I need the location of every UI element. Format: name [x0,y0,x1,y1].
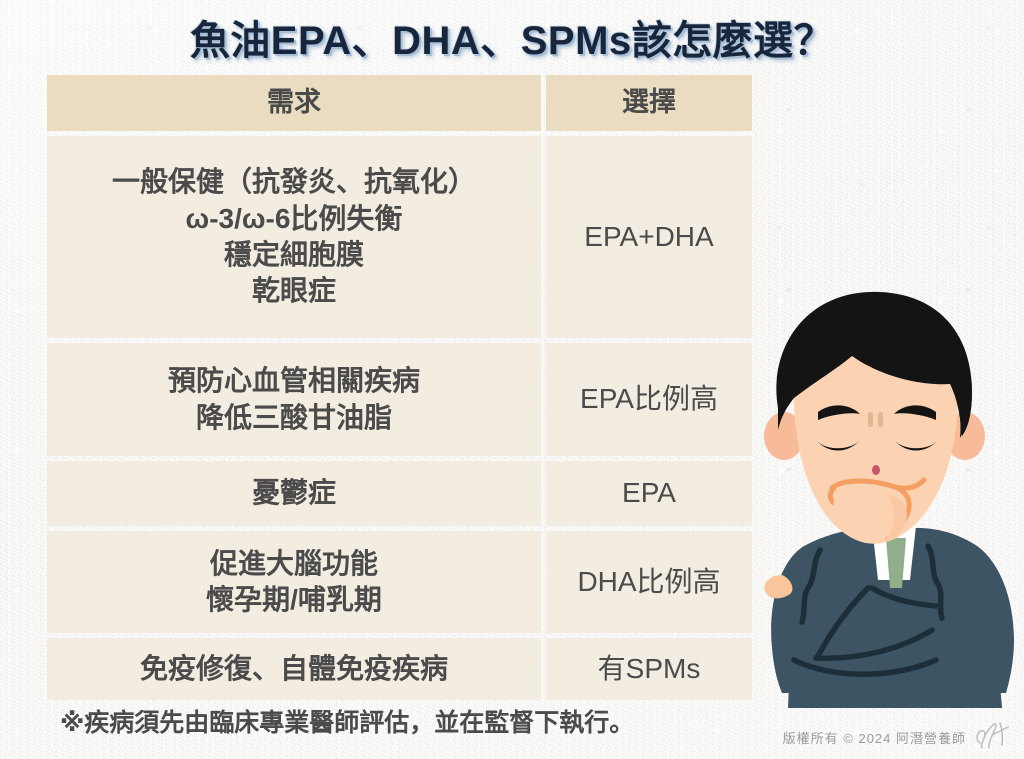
signature-mark [970,719,1016,753]
thinking-businessman-illustration [760,288,1024,713]
need-line: 預防心血管相關疾病 [168,363,420,399]
cell-need: 一般保健（抗發炎、抗氧化） ω-3/ω-6比例失衡 穩定細胞膜 乾眼症 [47,136,541,338]
comparison-table: 需求 選擇 一般保健（抗發炎、抗氧化） ω-3/ω-6比例失衡 穩定細胞膜 乾眼… [47,75,752,705]
need-line: 促進大腦功能 [206,546,382,582]
table-row: 促進大腦功能 懷孕期/哺乳期 DHA比例高 [47,531,752,633]
cell-need: 預防心血管相關疾病 降低三酸甘油脂 [47,343,541,456]
nose [872,465,880,475]
need-line: 乾眼症 [112,273,476,309]
copyright-text: 版權所有 © 2024 阿潛營養師 [783,728,966,747]
table-row: 預防心血管相關疾病 降低三酸甘油脂 EPA比例高 [47,343,752,456]
cell-choice: DHA比例高 [546,531,752,633]
table-row: 憂鬱症 EPA [47,461,752,526]
need-line: 降低三酸甘油脂 [168,400,420,436]
need-line: 免疫修復、自體免疫疾病 [140,651,448,687]
cell-choice: EPA+DHA [546,136,752,338]
column-header-need: 需求 [47,75,541,131]
need-line: ω-3/ω-6比例失衡 [112,201,476,237]
cell-choice: EPA比例高 [546,343,752,456]
need-line: 一般保健（抗發炎、抗氧化） [112,164,476,200]
footnote-text: ※疾病須先由臨床專業醫師評估，並在監督下執行。 [60,703,634,739]
table-row: 免疫修復、自體免疫疾病 有SPMs [47,638,752,700]
cell-choice: 有SPMs [546,638,752,700]
table-row: 一般保健（抗發炎、抗氧化） ω-3/ω-6比例失衡 穩定細胞膜 乾眼症 EPA+… [47,136,752,338]
brow-crease [868,412,873,427]
page-title: 魚油EPA、DHA、SPMs該怎麼選？ [0,8,1024,66]
need-line: 穩定細胞膜 [112,237,476,273]
cell-need: 促進大腦功能 懷孕期/哺乳期 [47,531,541,633]
cell-need: 免疫修復、自體免疫疾病 [47,638,541,700]
cell-choice: EPA [546,461,752,526]
need-line: 懷孕期/哺乳期 [206,582,382,618]
column-header-choice: 選擇 [546,75,752,131]
table-header-row: 需求 選擇 [47,75,752,131]
brow-crease [878,412,883,427]
cell-need: 憂鬱症 [47,461,541,526]
need-line: 憂鬱症 [252,475,336,511]
